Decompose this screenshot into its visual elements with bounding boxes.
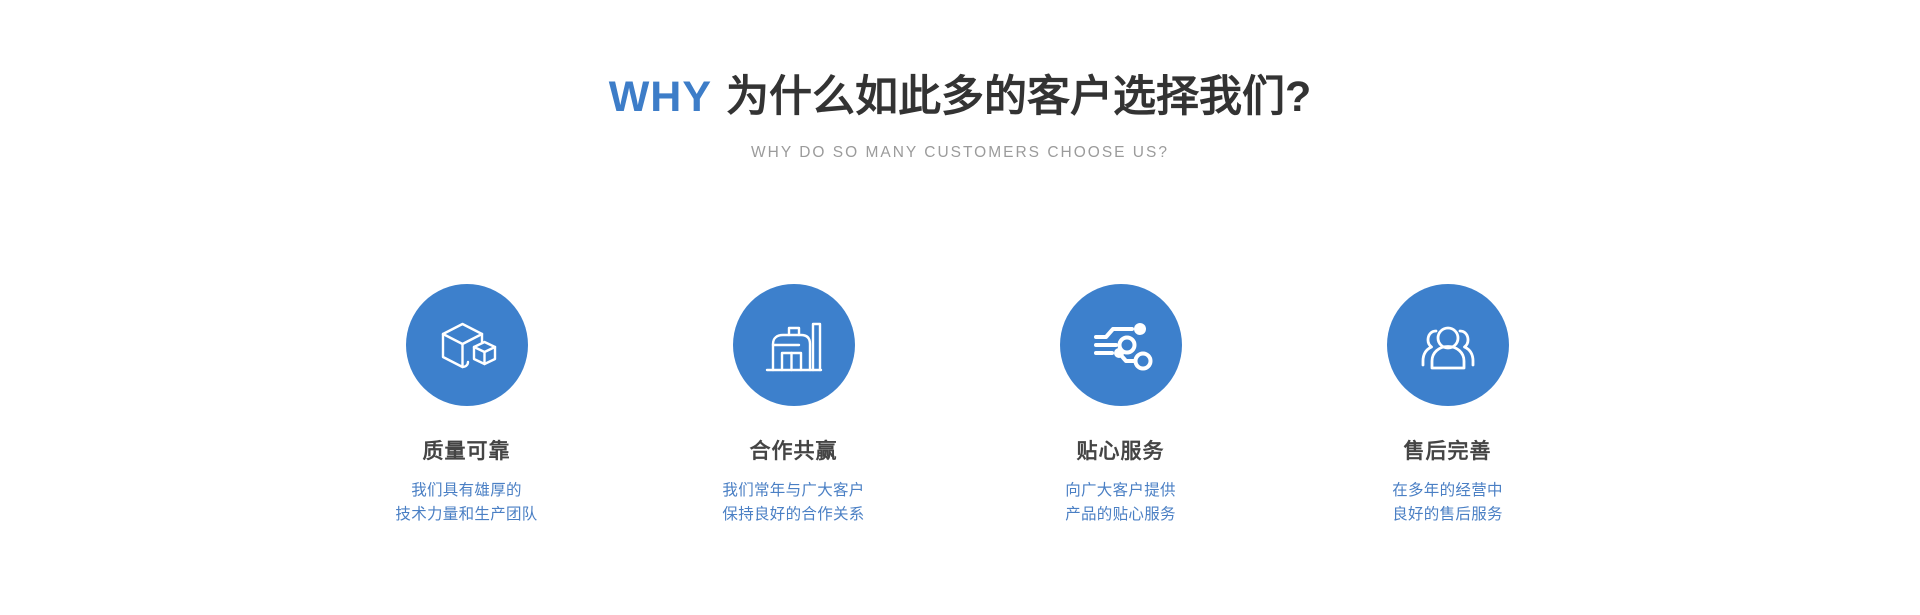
why-choose-us-section: WHY为什么如此多的客户选择我们? WHY DO SO MANY CUSTOME… [0, 0, 1920, 615]
feature-card-cooperation[interactable]: 合作共赢 我们常年与广大客户 保持良好的合作关系 [630, 284, 957, 527]
feature-card-list: 质量可靠 我们具有雄厚的 技术力量和生产团队 [303, 284, 1611, 527]
title-main-text: 为什么如此多的客户选择我们? [726, 73, 1311, 121]
icon-circle [1387, 284, 1509, 406]
icon-circle [733, 284, 855, 406]
description-line-1: 我们具有雄厚的 [395, 479, 537, 503]
icon-circle [1060, 284, 1182, 406]
description-line-1: 在多年的经营中 [1392, 479, 1503, 503]
description-line-2: 技术力量和生产团队 [395, 503, 537, 527]
section-header: WHY为什么如此多的客户选择我们? WHY DO SO MANY CUSTOME… [0, 66, 1920, 162]
feature-card-title: 合作共赢 [750, 439, 838, 465]
title-prefix-why: WHY [609, 73, 712, 121]
description-line-1: 我们常年与广大客户 [722, 479, 864, 503]
feature-card-description: 向广大客户提供 产品的贴心服务 [1065, 479, 1176, 527]
description-line-2: 产品的贴心服务 [1065, 503, 1176, 527]
feature-card-description: 在多年的经营中 良好的售后服务 [1392, 479, 1503, 527]
factory-icon [761, 312, 827, 378]
page-title: WHY为什么如此多的客户选择我们? [0, 66, 1920, 128]
feature-card-aftersales[interactable]: 售后完善 在多年的经营中 良好的售后服务 [1284, 284, 1611, 527]
feature-card-description: 我们具有雄厚的 技术力量和生产团队 [395, 479, 537, 527]
icon-circle [406, 284, 528, 406]
feature-card-title: 售后完善 [1404, 439, 1492, 465]
section-subtitle: WHY DO SO MANY CUSTOMERS CHOOSE US? [0, 144, 1920, 162]
package-box-icon [434, 312, 500, 378]
feature-card-description: 我们常年与广大客户 保持良好的合作关系 [722, 479, 864, 527]
description-line-2: 良好的售后服务 [1392, 503, 1503, 527]
feature-card-title: 质量可靠 [423, 439, 511, 465]
users-group-icon [1415, 312, 1481, 378]
description-line-1: 向广大客户提供 [1065, 479, 1176, 503]
feature-card-title: 贴心服务 [1077, 439, 1165, 465]
feature-card-service[interactable]: 贴心服务 向广大客户提供 产品的贴心服务 [957, 284, 1284, 527]
circuit-nodes-icon [1088, 312, 1154, 378]
description-line-2: 保持良好的合作关系 [722, 503, 864, 527]
feature-card-quality[interactable]: 质量可靠 我们具有雄厚的 技术力量和生产团队 [303, 284, 630, 527]
